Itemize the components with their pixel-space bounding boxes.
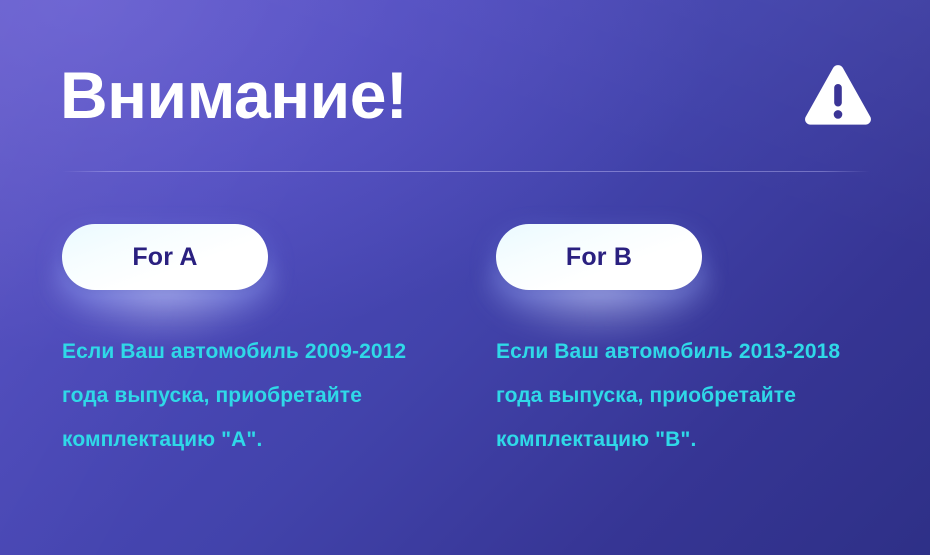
for-b-button-wrap: For B	[496, 224, 702, 290]
notice-banner: Внимание! For A Если Ваш автомобиль 2009…	[0, 0, 930, 555]
option-b-description: Если Ваш автомобиль 2013-2018 года выпус…	[496, 330, 886, 462]
warning-triangle-icon	[802, 62, 874, 132]
header-divider	[62, 171, 870, 172]
for-a-button[interactable]: For A	[62, 224, 268, 290]
for-a-button-label: For A	[132, 245, 197, 270]
for-b-button-label: For B	[566, 245, 632, 270]
page-title: Внимание!	[60, 56, 407, 134]
for-b-button[interactable]: For B	[496, 224, 702, 290]
for-a-button-wrap: For A	[62, 224, 268, 290]
option-column-a: For A Если Ваш автомобиль 2009-2012 года…	[62, 224, 268, 290]
option-column-b: For B Если Ваш автомобиль 2013-2018 года…	[496, 224, 702, 290]
option-a-description: Если Ваш автомобиль 2009-2012 года выпус…	[62, 330, 452, 462]
